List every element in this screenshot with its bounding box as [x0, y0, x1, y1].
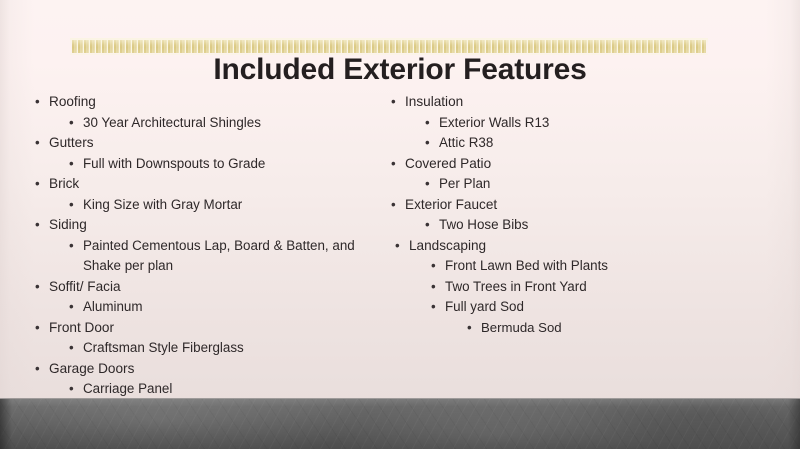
left-bullet-item-label: Garage Doors: [49, 359, 390, 380]
left-bullet-item-label: Craftsman Style Fiberglass: [83, 338, 390, 359]
bullet-point-icon: •: [467, 318, 477, 338]
right-bullet-item-label: Full yard Sod: [445, 297, 708, 318]
left-bullet-item: •Brick: [32, 174, 390, 195]
right-bullet-item-label: Two Trees in Front Yard: [445, 277, 708, 298]
content-columns: •Roofing•30 Year Architectural Shingles•…: [0, 92, 800, 392]
bullet-point-icon: •: [391, 154, 401, 174]
bullet-point-icon: •: [391, 92, 401, 112]
right-bullet-item-label: Front Lawn Bed with Plants: [445, 256, 708, 277]
bullet-point-icon: •: [35, 174, 45, 194]
left-bullet-item: •King Size with Gray Mortar: [66, 195, 390, 216]
left-bullet-item-label: Soffit/ Facia: [49, 277, 390, 298]
left-bullet-list: •Roofing•30 Year Architectural Shingles•…: [22, 92, 390, 449]
right-bullet-list: •Insulation•Exterior Walls R13•Attic R38…: [378, 92, 708, 338]
left-bullet-item: •Garage Doors: [32, 359, 390, 380]
right-bullet-item: •Exterior Walls R13: [422, 113, 708, 134]
left-bullet-item-label: Full with Downspouts to Grade: [83, 154, 390, 175]
left-bullet-item-label: King Size with Gray Mortar: [83, 195, 390, 216]
slide-title: Included Exterior Features: [0, 53, 800, 87]
left-bullet-item: •Carriage Panel: [66, 379, 390, 400]
bullet-point-icon: •: [69, 195, 79, 215]
bullet-point-icon: •: [69, 379, 79, 399]
right-bullet-item-label: Insulation: [405, 92, 708, 113]
bullet-point-icon: •: [425, 215, 435, 235]
left-bullet-item-label: 30 Year Architectural Shingles: [83, 113, 390, 134]
bullet-point-icon: •: [431, 256, 441, 276]
right-bullet-item: •Front Lawn Bed with Plants: [428, 256, 708, 277]
left-bullet-item-label: Brick: [49, 174, 390, 195]
left-bullet-item: •Gutters: [32, 133, 390, 154]
left-bullet-item-label: Aluminum: [83, 297, 390, 318]
right-bullet-item-label: Per Plan: [439, 174, 708, 195]
left-bullet-item: •Full with Downspouts to Grade: [66, 154, 390, 175]
bullet-point-icon: •: [431, 277, 441, 297]
bullet-point-icon: •: [69, 297, 79, 317]
bullet-point-icon: •: [391, 195, 401, 215]
bullet-point-icon: •: [69, 113, 79, 133]
bullet-point-icon: •: [35, 277, 45, 297]
left-content-column: •Roofing•30 Year Architectural Shingles•…: [22, 92, 390, 449]
right-bullet-item: •Bermuda Sod: [464, 318, 708, 339]
right-bullet-item: •Two Trees in Front Yard: [428, 277, 708, 298]
decorative-dashed-band: [72, 40, 706, 53]
left-bullet-item-label: Carriage Panel: [83, 379, 390, 400]
bullet-point-icon: •: [425, 133, 435, 153]
right-bullet-item: •Full yard Sod: [428, 297, 708, 318]
left-bullet-item: •30 Year Architectural Shingles: [66, 113, 390, 134]
left-bullet-item-label: Siding: [49, 215, 390, 236]
left-bullet-item: •Siding: [32, 215, 390, 236]
right-bullet-item-label: Bermuda Sod: [481, 318, 708, 339]
right-bullet-item: •Exterior Faucet: [388, 195, 708, 216]
bullet-point-icon: •: [35, 215, 45, 235]
left-bullet-item: •Front Door: [32, 318, 390, 339]
slide-canvas: Included Exterior Features •Roofing•30 Y…: [0, 0, 800, 449]
bullet-point-icon: •: [69, 154, 79, 174]
right-bullet-item-label: Exterior Faucet: [405, 195, 708, 216]
right-bullet-item-label: Exterior Walls R13: [439, 113, 708, 134]
bullet-point-icon: •: [425, 113, 435, 133]
right-bullet-item: •Insulation: [388, 92, 708, 113]
right-bullet-item: •Two Hose Bibs: [422, 215, 708, 236]
left-bullet-item: •Aluminum: [66, 297, 390, 318]
bullet-point-icon: •: [431, 297, 441, 317]
bullet-point-icon: •: [35, 318, 45, 338]
right-bullet-item: •Per Plan: [422, 174, 708, 195]
right-bullet-item: •Covered Patio: [388, 154, 708, 175]
left-bullet-item-label: Front Door: [49, 318, 390, 339]
bottom-gray-texture-strip: [0, 399, 800, 449]
right-bullet-item: •Landscaping: [392, 236, 708, 257]
left-bullet-item-label: Roofing: [49, 92, 390, 113]
right-bullet-item: •Attic R38: [422, 133, 708, 154]
bullet-point-icon: •: [69, 338, 79, 358]
bullet-point-icon: •: [35, 359, 45, 379]
right-bullet-item-label: Landscaping: [409, 236, 708, 257]
left-bullet-item: •Craftsman Style Fiberglass: [66, 338, 390, 359]
bullet-point-icon: •: [35, 133, 45, 153]
right-bullet-item-label: Covered Patio: [405, 154, 708, 175]
left-bullet-item-label: Painted Cementous Lap, Board & Batten, a…: [83, 236, 390, 277]
bullet-point-icon: •: [425, 174, 435, 194]
right-content-column: •Insulation•Exterior Walls R13•Attic R38…: [378, 92, 708, 338]
left-bullet-item-label: Gutters: [49, 133, 390, 154]
left-bullet-item: •Soffit/ Facia: [32, 277, 390, 298]
bullet-point-icon: •: [69, 236, 79, 256]
bullet-point-icon: •: [35, 92, 45, 112]
left-bullet-item: •Painted Cementous Lap, Board & Batten, …: [66, 236, 390, 277]
right-bullet-item-label: Attic R38: [439, 133, 708, 154]
bullet-point-icon: •: [395, 236, 405, 256]
right-bullet-item-label: Two Hose Bibs: [439, 215, 708, 236]
left-bullet-item: •Roofing: [32, 92, 390, 113]
